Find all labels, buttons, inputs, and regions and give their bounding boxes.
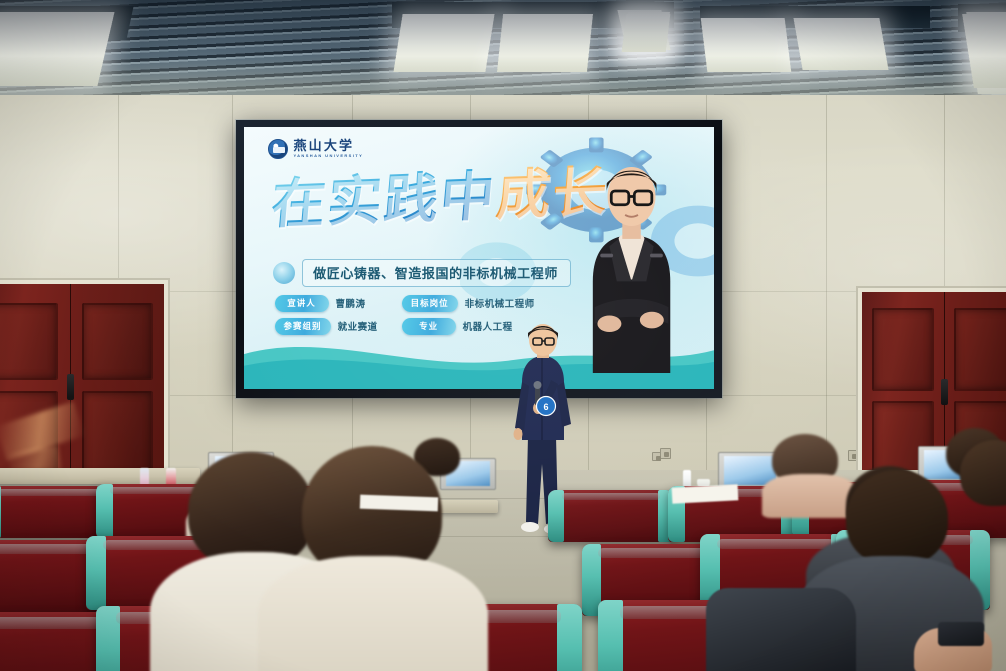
slide-title-blue: 在实践中 <box>269 166 499 235</box>
university-logo: 燕山大学 YANSHAN UNIVERSITY <box>268 139 363 159</box>
field-label: 专业 <box>402 318 456 335</box>
wall-outlet <box>652 452 661 461</box>
field-value: 曹鹏涛 <box>336 296 366 310</box>
field-value: 就业赛道 <box>338 319 378 333</box>
papers <box>360 495 438 512</box>
audience-person-body <box>762 474 858 518</box>
audience-person-body <box>258 556 488 671</box>
led-presentation-screen[interactable]: 燕山大学 YANSHAN UNIVERSITY 在实践中成长 做匠心铸器、智造报… <box>236 120 722 398</box>
slide-subtitle-row: 做匠心铸器、智造报国的非标机械工程师 <box>273 259 571 287</box>
slide-subtitle: 做匠心铸器、智造报国的非标机械工程师 <box>302 259 571 287</box>
smartphone[interactable] <box>938 622 984 646</box>
slide-field: 目标岗位 非标机械工程师 <box>402 295 535 312</box>
slide-field-grid: 宣讲人 曹鹏涛 目标岗位 非标机械工程师 参赛组别 就业赛道 专业 机器人工程 <box>275 295 535 335</box>
slide-field: 参赛组别 就业赛道 <box>275 318 378 335</box>
seat[interactable] <box>548 490 674 542</box>
university-name-cn: 燕山大学 <box>293 139 363 152</box>
university-name-en: YANSHAN UNIVERSITY <box>293 154 363 158</box>
presenter-badge-number: 6 <box>543 402 548 412</box>
backpack <box>706 588 856 671</box>
field-label: 目标岗位 <box>402 295 458 312</box>
ceiling-shading <box>0 0 1006 102</box>
audience-person-head <box>846 470 948 566</box>
door-leaf[interactable] <box>71 284 165 498</box>
lecture-hall-scene: 燕山大学 YANSHAN UNIVERSITY 在实践中成长 做匠心铸器、智造报… <box>0 0 1006 671</box>
ceiling <box>0 0 1006 102</box>
subtitle-badge-icon <box>273 262 295 284</box>
slide-field: 宣讲人 曹鹏涛 <box>275 295 378 312</box>
wall-outlet <box>660 448 671 459</box>
slide-title: 在实践中成长 <box>269 166 576 232</box>
slide-content: 燕山大学 YANSHAN UNIVERSITY 在实践中成长 做匠心铸器、智造报… <box>244 127 714 389</box>
university-emblem-icon <box>268 139 288 159</box>
field-label: 宣讲人 <box>275 295 329 312</box>
field-value: 非标机械工程师 <box>465 296 535 310</box>
door-handle-icon[interactable] <box>941 379 948 405</box>
field-label: 参赛组别 <box>275 318 331 335</box>
